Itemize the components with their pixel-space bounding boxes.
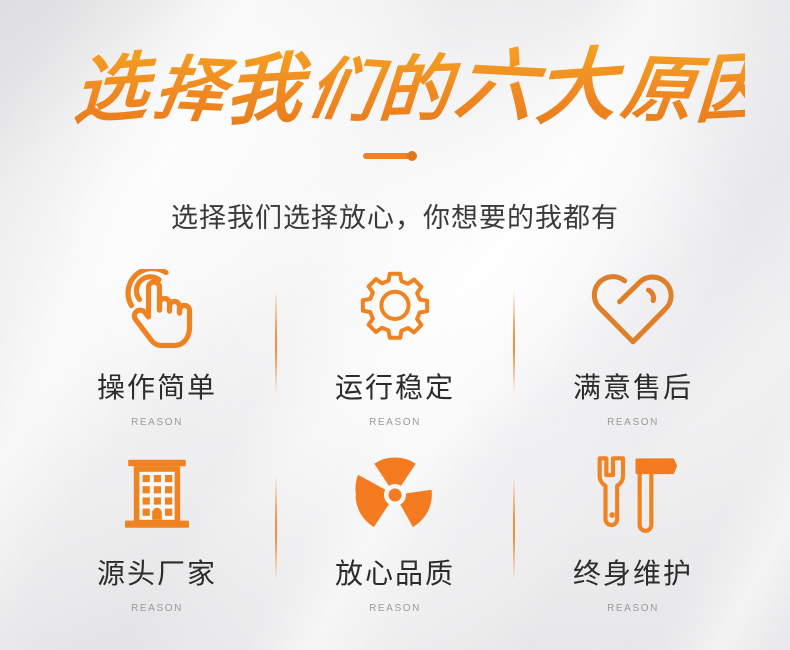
reason-label: 操作简单 xyxy=(97,366,217,406)
page-subtitle: 选择我们选择放心，你想要的我都有 xyxy=(0,196,790,235)
svg-text:选择我们的六大原因: 选择我们的六大原因 xyxy=(66,38,745,136)
reason-cell-3[interactable]: 满意售后 REASON xyxy=(514,258,752,444)
heart-icon xyxy=(587,266,679,352)
page-title: 选择我们的六大原因 xyxy=(0,38,790,138)
reasons-grid: 操作简单 REASON 运行稳定 REASON xyxy=(38,258,752,630)
reason-label: 满意售后 xyxy=(573,366,693,406)
gear-icon xyxy=(349,266,441,352)
reason-subtext: REASON xyxy=(131,603,183,614)
reason-cell-6[interactable]: 终身维护 REASON xyxy=(514,444,752,630)
divider-bar xyxy=(363,153,411,159)
reason-label: 放心品质 xyxy=(335,552,455,592)
reason-subtext: REASON xyxy=(369,603,421,614)
reason-label: 源头厂家 xyxy=(97,552,217,592)
reason-cell-5[interactable]: 放心品质 REASON xyxy=(276,444,514,630)
reason-subtext: REASON xyxy=(607,417,659,428)
wrench-hammer-icon xyxy=(587,452,679,538)
hand-tap-icon xyxy=(111,266,203,352)
reason-label: 终身维护 xyxy=(573,552,693,592)
reason-cell-1[interactable]: 操作简单 REASON xyxy=(38,258,276,444)
title-calligraphy: 选择我们的六大原因 xyxy=(45,38,745,138)
promo-banner: 选择我们的六大原因 选择我们选择放心，你想要的我都有 xyxy=(0,0,790,650)
reason-subtext: REASON xyxy=(369,417,421,428)
divider-dot xyxy=(407,151,417,161)
title-divider xyxy=(0,149,790,163)
reason-subtext: REASON xyxy=(607,603,659,614)
reason-cell-4[interactable]: 源头厂家 REASON xyxy=(38,444,276,630)
reason-cell-2[interactable]: 运行稳定 REASON xyxy=(276,258,514,444)
factory-building-icon xyxy=(111,452,203,538)
radiation-quality-icon xyxy=(349,452,441,538)
reason-label: 运行稳定 xyxy=(335,366,455,406)
reason-subtext: REASON xyxy=(131,417,183,428)
